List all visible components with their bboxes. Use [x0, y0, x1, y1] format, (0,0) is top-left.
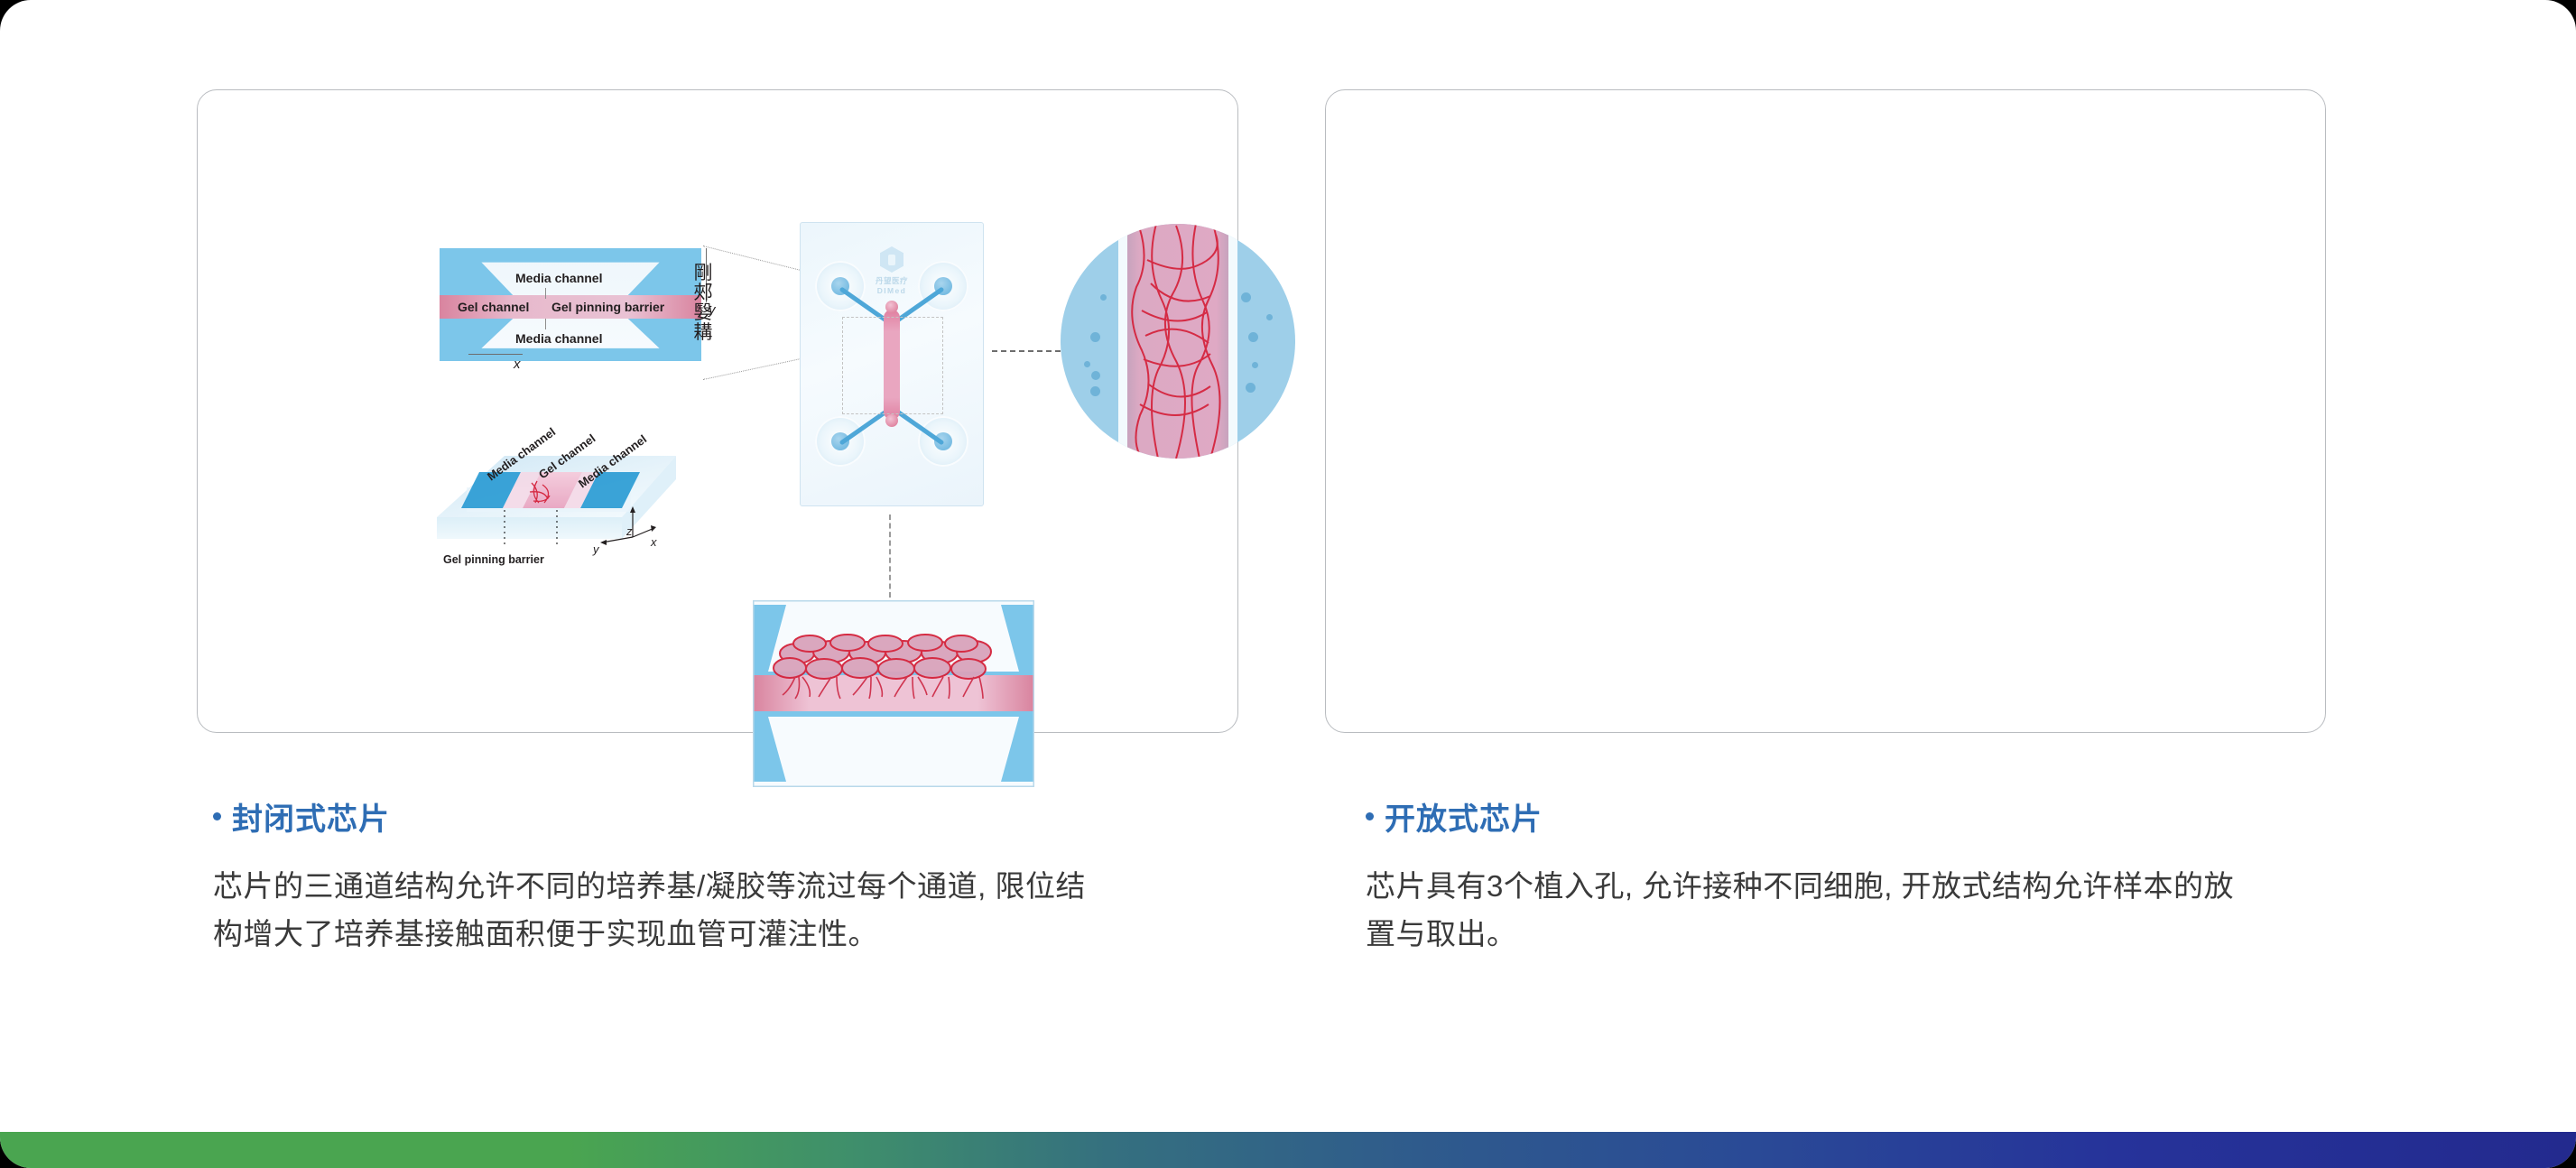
label-gel-pinning-barrier: Gel pinning barrier [551, 300, 664, 314]
open-chip-body-text: 芯片具有3个植入孔, 允许接种不同细胞, 开放式结构允许样本的放置与取出。 [1366, 862, 2255, 959]
open-chip-heading: 开放式芯片 [1366, 794, 2322, 839]
closed-chip-heading: 封闭式芯片 [213, 794, 1170, 839]
gel-inlet-bottom [885, 414, 898, 427]
bottom-gradient-bar [0, 1132, 2576, 1168]
chip-device-top-view: 丹望医疗 DIMed [800, 222, 984, 506]
bullet-icon [1366, 812, 1374, 820]
pin-barrier-tick-bottom [545, 319, 546, 329]
closed-chip-caption: 封闭式芯片 芯片的三通道结构允许不同的培养基/凝胶等流过每个通道, 限位结构增大… [213, 794, 1170, 959]
open-chip-caption: 开放式芯片 芯片具有3个植入孔, 允许接种不同细胞, 开放式结构允许样本的放置与… [1366, 794, 2322, 959]
closed-chip-figure-card: Media channel Gel channel Gel pinning ba… [197, 89, 1238, 733]
leader-chip-to-crosssection [889, 514, 891, 598]
chip-zoom-region [842, 317, 943, 414]
iso-axis-x: x [650, 535, 657, 549]
iso-label-gel-pinning-barrier: Gel pinning barrier [443, 553, 544, 566]
label-media-channel-bottom: Media channel [515, 331, 602, 346]
brand-name-cn: 丹望医疗 [868, 275, 915, 286]
axis-label-x-topview: x [514, 357, 521, 372]
chip-logo: 丹望医疗 DIMed [868, 246, 915, 295]
iso-axis-z: z [625, 524, 633, 538]
isometric-chip-view: Media channel Gel channel Media channel … [405, 402, 703, 587]
pin-barrier-tick-top [545, 288, 546, 299]
slide-page: Media channel Gel channel Gel pinning ba… [0, 0, 2576, 1168]
open-chip-figure-card [1325, 89, 2326, 733]
top-view-schematic: Media channel Gel channel Gel pinning ba… [440, 248, 701, 361]
brand-name-en: DIMed [868, 286, 915, 295]
brand-hex-icon [880, 246, 903, 273]
closed-chip-heading-text: 封闭式芯片 [232, 794, 390, 839]
label-media-channel-top: Media channel [515, 271, 602, 285]
cross-section-view [753, 600, 1034, 787]
vessel-network-svg [1061, 224, 1295, 459]
gel-inlet-top [885, 301, 898, 313]
iso-axis-y: y [592, 542, 600, 556]
bullet-icon [213, 812, 221, 820]
leader-chip-to-circle [992, 350, 1061, 352]
vertical-note-text: 剛郟嫛耩 [692, 264, 714, 343]
closed-chip-body-text: 芯片的三通道结构允许不同的培养基/凝胶等流过每个通道, 限位结构增大了培养基接触… [213, 862, 1102, 959]
chip-port-top-right [918, 261, 968, 311]
vessel-circle-inset [1061, 224, 1295, 459]
open-chip-heading-text: 开放式芯片 [1385, 794, 1543, 839]
label-gel-channel: Gel channel [458, 300, 529, 314]
cross-section-svg [754, 601, 1033, 786]
